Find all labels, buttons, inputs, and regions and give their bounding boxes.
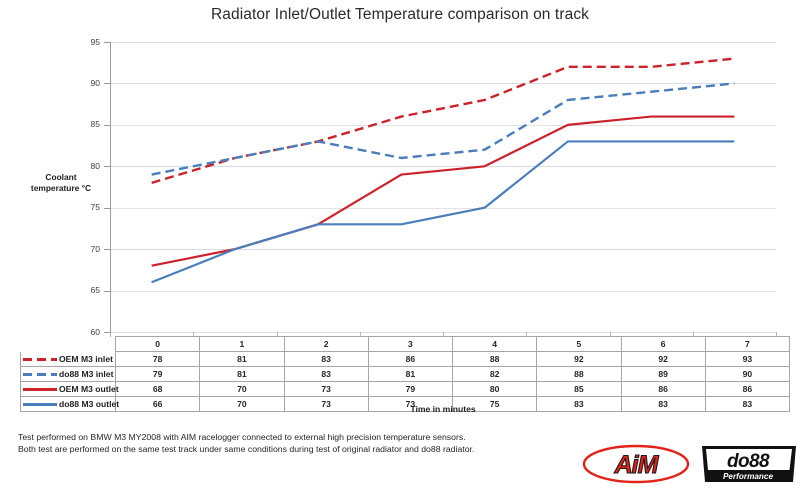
table-col-header-5: 5 [537,337,621,352]
table-cell: 73 [284,382,368,397]
legend-entry-oem-m3-outlet: OEM M3 outlet [21,382,116,397]
table-col-header-4: 4 [453,337,537,352]
legend-swatch-solid-red-icon [23,388,57,391]
logo-group: AiM do88 Performance [582,443,797,487]
series-line-do88-m3-outlet [152,141,735,282]
table-cell: 81 [200,352,284,367]
do88-logo: do88 Performance [700,445,798,483]
table-row: do88 M3 inlet7981838182888990 [21,367,790,382]
table-row: OEM M3 outlet6870737980858686 [21,382,790,397]
table-cell: 83 [284,352,368,367]
chart-page: Radiator Inlet/Outlet Temperature compar… [0,0,800,491]
series-line-oem-m3-outlet [152,117,735,266]
table-col-header-1: 1 [200,337,284,352]
table-cell: 92 [537,352,621,367]
table-cell: 82 [453,367,537,382]
table-col-header-3: 3 [368,337,452,352]
table-col-header-7: 7 [705,337,789,352]
legend-entry-do88-m3-outlet: do88 M3 outlet [21,397,116,412]
table-col-header-2: 2 [284,337,368,352]
table-col-header-6: 6 [621,337,705,352]
table-cell: 79 [116,367,200,382]
legend-swatch-solid-blue-icon [23,403,57,406]
legend-entry-oem-m3-inlet: OEM M3 inlet [21,352,116,367]
data-series-layer [0,0,800,345]
legend-entry-do88-m3-inlet: do88 M3 inlet [21,367,116,382]
table-cell: 93 [705,352,789,367]
series-line-oem-m3-inlet [152,59,735,183]
table-row: OEM M3 inlet7881838688929293 [21,352,790,367]
table-col-header-0: 0 [116,337,200,352]
table-cell: 85 [537,382,621,397]
legend-label: OEM M3 inlet [59,354,113,364]
footnote-line-2: Both test are performed on the same test… [18,444,618,456]
x-axis-title: Time in minutes [110,404,776,414]
legend-swatch-dash-blue-icon [23,373,57,376]
table-cell: 80 [453,382,537,397]
data-table: 01234567 OEM M3 inlet7881838688929293do8… [20,336,790,412]
table-cell: 70 [200,382,284,397]
table-header-row: 01234567 [21,337,790,352]
table-cell: 68 [116,382,200,397]
table-cell: 92 [621,352,705,367]
table-cell: 81 [368,367,452,382]
aim-logo: AiM [582,444,690,484]
table-cell: 81 [200,367,284,382]
footnote-line-1: Test performed on BMW M3 MY2008 with AIM… [18,432,618,444]
legend-swatch-dash-red-icon [23,358,57,361]
table-cell: 86 [705,382,789,397]
legend-label: do88 M3 inlet [59,369,113,379]
table-cell: 86 [368,352,452,367]
table-cell: 88 [537,367,621,382]
table-cell: 86 [621,382,705,397]
do88-logo-main: do88 [727,451,770,472]
plot-region: Coolant temperature °C 6065707580859095 [0,0,800,345]
table-cell: 83 [284,367,368,382]
footnote: Test performed on BMW M3 MY2008 with AIM… [18,432,618,455]
table-cell: 79 [368,382,452,397]
table-cell: 88 [453,352,537,367]
table-corner-cell [21,337,116,352]
table-cell: 78 [116,352,200,367]
legend-label: OEM M3 outlet [59,384,119,394]
series-line-do88-m3-inlet [152,83,735,174]
svg-text:AiM: AiM [614,451,660,479]
table-cell: 90 [705,367,789,382]
do88-logo-sub: Performance [723,472,774,481]
table-cell: 89 [621,367,705,382]
